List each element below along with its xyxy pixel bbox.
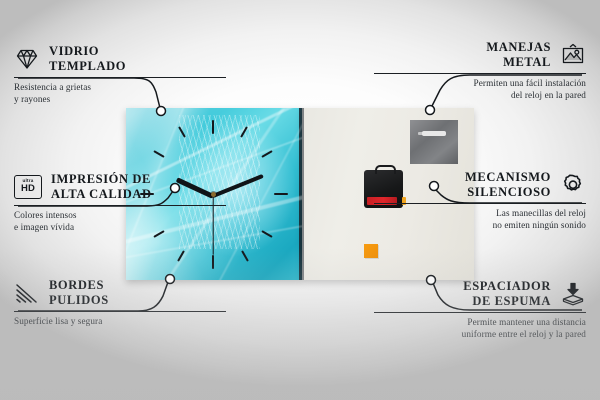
feature-description: Las manecillas del reloj no emiten ningú… — [374, 207, 586, 231]
feature-description: Permite mantener una distancia uniforme … — [374, 316, 586, 340]
polished-edges-icon — [14, 281, 40, 305]
feature-title-line1: IMPRESIÓN DE — [51, 172, 152, 187]
feature-desc-line1: Permite mantener una distancia — [374, 316, 586, 328]
feature-description: Resistencia a grietas y rayones — [14, 81, 226, 105]
feature-desc-line2: uniforme entre el reloj y la pared — [374, 328, 586, 340]
infographic-canvas: VIDRIO TEMPLADO Resistencia a grietas y … — [0, 0, 600, 400]
feature-description: Superficie lisa y segura — [14, 315, 226, 327]
feature-title-group: BORDES PULIDOS — [49, 278, 109, 308]
feature-title-line2: TEMPLADO — [49, 59, 126, 74]
feature-desc-line1: Resistencia a grietas — [14, 81, 226, 93]
feature-espaciador-espuma: ESPACIADOR DE ESPUMA Permite mantener un… — [374, 279, 586, 340]
gear-icon — [560, 173, 586, 197]
feature-impresion-alta-calidad: ultra HD IMPRESIÓN DE ALTA CALIDAD Color… — [14, 172, 226, 233]
feature-description: Colores intensos e imagen vívida — [14, 209, 226, 233]
clock-tick — [241, 250, 249, 261]
feature-desc-line1: Permiten una fácil instalación — [374, 77, 586, 89]
feature-title-line2: PULIDOS — [49, 293, 109, 308]
hanger-slot — [422, 131, 446, 136]
diamond-icon — [14, 47, 40, 71]
feature-desc-line1: Las manecillas del reloj — [374, 207, 586, 219]
feature-description: Permiten una fácil instalación del reloj… — [374, 77, 586, 101]
feature-vidrio-templado: VIDRIO TEMPLADO Resistencia a grietas y … — [14, 44, 226, 105]
feature-title-line1: ESPACIADOR — [463, 279, 551, 294]
feature-title-group: VIDRIO TEMPLADO — [49, 44, 126, 74]
feature-desc-line1: Colores intensos — [14, 209, 226, 221]
feature-divider — [14, 205, 226, 207]
foam-spacer-icon — [560, 282, 586, 306]
feature-title-line1: VIDRIO — [49, 44, 126, 59]
feature-divider — [374, 203, 586, 205]
feature-mecanismo-silencioso: MECANISMO SILENCIOSO Las manecillas del … — [374, 170, 586, 231]
metal-hanger-plate — [410, 120, 458, 164]
feature-title-line1: BORDES — [49, 278, 109, 293]
feature-divider — [14, 77, 226, 79]
clock-tick — [212, 255, 214, 269]
clock-tick — [274, 193, 288, 195]
feature-bordes-pulidos: BORDES PULIDOS Superficie lisa y segura — [14, 278, 226, 327]
feature-title-line2: SILENCIOSO — [465, 185, 551, 200]
feature-title-group: IMPRESIÓN DE ALTA CALIDAD — [51, 172, 152, 202]
feature-title-line2: METAL — [486, 55, 551, 70]
feature-manejas-metal: MANEJAS METAL Permiten una fácil instala… — [374, 40, 586, 101]
picture-hanger-icon — [560, 43, 586, 67]
feature-desc-line2: no emiten ningún sonido — [374, 219, 586, 231]
ultra-hd-icon: ultra HD — [14, 175, 42, 199]
feature-title-group: MECANISMO SILENCIOSO — [465, 170, 551, 200]
feature-desc-line2: y rayones — [14, 93, 226, 105]
feature-desc-line1: Superficie lisa y segura — [14, 315, 226, 327]
feature-divider — [14, 311, 226, 313]
feature-title-group: MANEJAS METAL — [486, 40, 551, 70]
feature-divider — [374, 73, 586, 75]
feature-title-group: ESPACIADOR DE ESPUMA — [463, 279, 551, 309]
foam-spacer — [364, 244, 378, 258]
feature-title-line2: ALTA CALIDAD — [51, 187, 152, 202]
feature-divider — [374, 312, 586, 314]
feature-title-line1: MECANISMO — [465, 170, 551, 185]
feature-title-line2: DE ESPUMA — [463, 294, 551, 309]
feature-desc-line2: e imagen vívida — [14, 221, 226, 233]
ultra-hd-icon-bottom: HD — [21, 184, 35, 194]
feature-title-line1: MANEJAS — [486, 40, 551, 55]
feature-desc-line2: del reloj en la pared — [374, 89, 586, 101]
clock-tick — [212, 120, 214, 134]
